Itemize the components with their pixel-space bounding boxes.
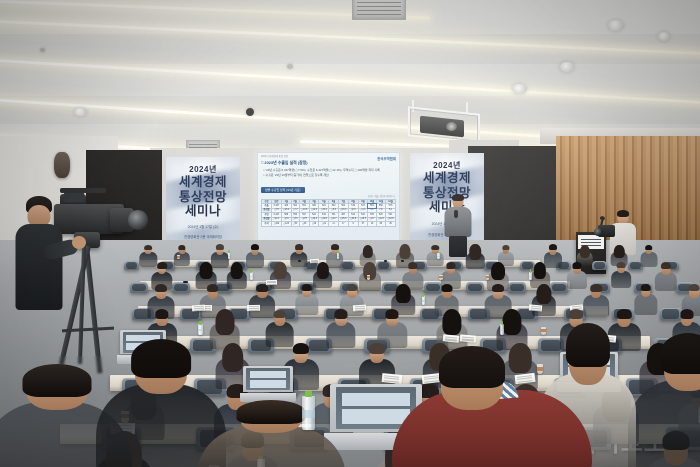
table-cell: 9 <box>348 222 358 226</box>
table-cell: 16 <box>368 222 376 226</box>
photographer-hair <box>617 210 629 217</box>
wall-speaker-icon <box>54 152 70 178</box>
presenter-hair <box>452 194 464 201</box>
audience-hair <box>441 284 452 292</box>
chair <box>172 282 190 293</box>
audience-hair <box>256 284 268 292</box>
audience-hair <box>534 262 546 278</box>
audience-hair <box>590 284 601 292</box>
coffee-cup <box>439 275 443 281</box>
handout-paper <box>443 334 460 343</box>
audience-hair <box>334 309 347 318</box>
water-bottle <box>198 324 202 335</box>
camera-top-handle <box>60 188 106 193</box>
audience-hair <box>502 245 509 250</box>
audience-torso <box>295 294 318 314</box>
foreground-attendee-torso <box>628 380 700 467</box>
audience-torso <box>174 252 190 266</box>
foreground-attendee-hair <box>439 346 505 388</box>
slide-data-table: 구분연간1월2월3월4월5월6월7월8월9월10월11월12월 수출6,3274… <box>261 199 396 227</box>
audience-hair <box>273 310 286 319</box>
foreground-attendee-hair <box>131 339 191 379</box>
audience-hair <box>492 284 504 292</box>
water-bottle <box>250 272 253 280</box>
smoke-detector-icon <box>40 48 45 52</box>
audience-hair <box>144 245 152 250</box>
audience-hair <box>446 262 455 268</box>
audience-member <box>378 309 407 347</box>
audience-hair <box>661 262 671 269</box>
audience-hair <box>301 284 311 291</box>
seminar-room-photo: 2024년 세계경제 통상전망 세미나 2024년 1월 17일 (수) 전경련… <box>0 0 700 467</box>
table-cell: △126 <box>281 222 291 226</box>
audience-hair <box>645 245 653 250</box>
audience-member <box>265 310 294 347</box>
handout-paper <box>247 305 261 311</box>
audience-hair <box>569 309 583 319</box>
audience-hair <box>399 244 410 259</box>
table-cell: △100 <box>271 222 281 226</box>
audience-hair <box>396 284 411 303</box>
recessed-spotlight-icon <box>608 20 624 31</box>
security-camera-icon <box>246 108 254 116</box>
audience-hair <box>362 245 372 259</box>
table-cell: 17 <box>338 222 348 226</box>
audience-hair <box>200 262 213 279</box>
audience-member <box>246 244 264 267</box>
audience-hair <box>442 309 461 335</box>
handout-paper <box>459 334 476 342</box>
camera-viewfinder-icon <box>64 192 84 202</box>
audience-hair <box>274 262 286 279</box>
laptop <box>243 366 293 402</box>
water-bottle <box>422 296 426 305</box>
phone <box>183 281 187 283</box>
audience-hair <box>469 244 481 259</box>
water-bottle <box>500 324 504 335</box>
audience-hair <box>155 284 167 292</box>
audience-member <box>359 343 395 390</box>
recessed-spotlight-icon <box>658 32 670 41</box>
table-cell: △26 <box>309 222 319 226</box>
audience-hair <box>157 262 167 269</box>
chair <box>130 282 148 293</box>
table-cell: △46 <box>299 222 309 226</box>
audience-hair <box>431 245 439 250</box>
projector <box>408 110 476 144</box>
table-cell: △53 <box>291 222 299 226</box>
audience-member <box>295 284 318 314</box>
audience-hair <box>316 262 328 278</box>
chair <box>466 282 484 293</box>
recessed-spotlight-icon <box>512 84 527 94</box>
table-row-label: 수지 <box>262 222 272 226</box>
audience-hair <box>580 245 590 259</box>
slide-logo: 한국무역협회 <box>377 156 396 161</box>
audience-torso <box>326 322 355 347</box>
water-bottle <box>302 396 315 430</box>
audience-torso <box>246 252 264 268</box>
phone <box>384 260 387 262</box>
audience-hair <box>207 284 219 292</box>
audience-hair <box>680 309 693 318</box>
audience-hair <box>251 244 259 250</box>
audience-member <box>290 244 307 267</box>
audience-member <box>611 262 631 288</box>
audience-hair <box>536 284 551 304</box>
laptop-lid <box>243 366 293 392</box>
audience-hair <box>573 262 582 268</box>
smoke-detector-icon <box>287 64 293 69</box>
audience-hair <box>614 245 624 259</box>
table-row: 수지△100△126△53△46△26△211117937163845 <box>262 222 396 226</box>
table-cell: 45 <box>386 222 396 226</box>
foreground-attendee <box>196 398 346 467</box>
slide-bullet: ○ '23년 수출은 6,327억불(△7.5%), 수입은 6,427억불(△… <box>263 168 400 172</box>
audience-hair <box>689 284 700 292</box>
foreground-attendee-hair <box>23 364 92 397</box>
audience-hair <box>231 262 244 279</box>
recessed-spotlight-icon <box>74 108 87 116</box>
presenter-hand-microphone <box>454 210 458 218</box>
audience-hair <box>549 244 557 250</box>
audience-hair <box>369 343 385 354</box>
audience-hair <box>155 309 168 318</box>
audience-hair <box>346 284 357 292</box>
audience-hair <box>293 343 309 354</box>
audience-hair <box>295 244 303 249</box>
foreground-attendee-hair <box>660 333 700 374</box>
slide-table-title: 월별 수출입 실적 ('23년 기준) <box>261 187 305 193</box>
hvac-vent-icon <box>352 0 406 20</box>
recessed-spotlight-icon <box>560 62 574 72</box>
table-cell: △21 <box>319 222 329 226</box>
water-bottle <box>529 272 532 280</box>
audience-hair <box>502 309 521 335</box>
coffee-cup <box>367 275 371 281</box>
slide-bullet: ○ 수출은 '23년 10월부터 증가세, 연말으로 갈수록 개선 <box>263 173 400 177</box>
audience-hair <box>386 309 399 318</box>
audience-member <box>655 262 677 291</box>
chair <box>124 261 139 270</box>
coffee-cup <box>177 255 180 260</box>
table-cell: 38 <box>376 222 386 226</box>
audience-hair <box>408 262 417 269</box>
audience-hair <box>491 262 505 280</box>
audience-hair <box>641 284 651 291</box>
audience-hair <box>617 309 631 319</box>
foreground-attendee <box>628 330 700 467</box>
foreground-attendee-hair <box>237 400 306 424</box>
camera-lens-icon <box>128 210 148 230</box>
audience-hair <box>617 262 626 268</box>
audience-torso <box>611 271 631 288</box>
laptop-screen[interactable] <box>246 368 290 391</box>
audience-hair <box>216 244 224 250</box>
slide-table-unit: (단위 : 억불, 전년동기대비 %) <box>368 194 395 198</box>
audience-torso <box>655 272 677 291</box>
chair <box>592 261 607 270</box>
foreground-attendee <box>392 352 592 467</box>
water-bottle <box>437 253 439 259</box>
audience-hair <box>178 245 185 250</box>
audience-member <box>466 244 485 268</box>
table-cell: 11 <box>329 222 339 226</box>
audience-member <box>326 309 355 347</box>
water-bottle <box>228 253 230 259</box>
audience-member <box>227 262 247 289</box>
table-cell: 37 <box>358 222 368 226</box>
audience-hair <box>215 309 234 334</box>
